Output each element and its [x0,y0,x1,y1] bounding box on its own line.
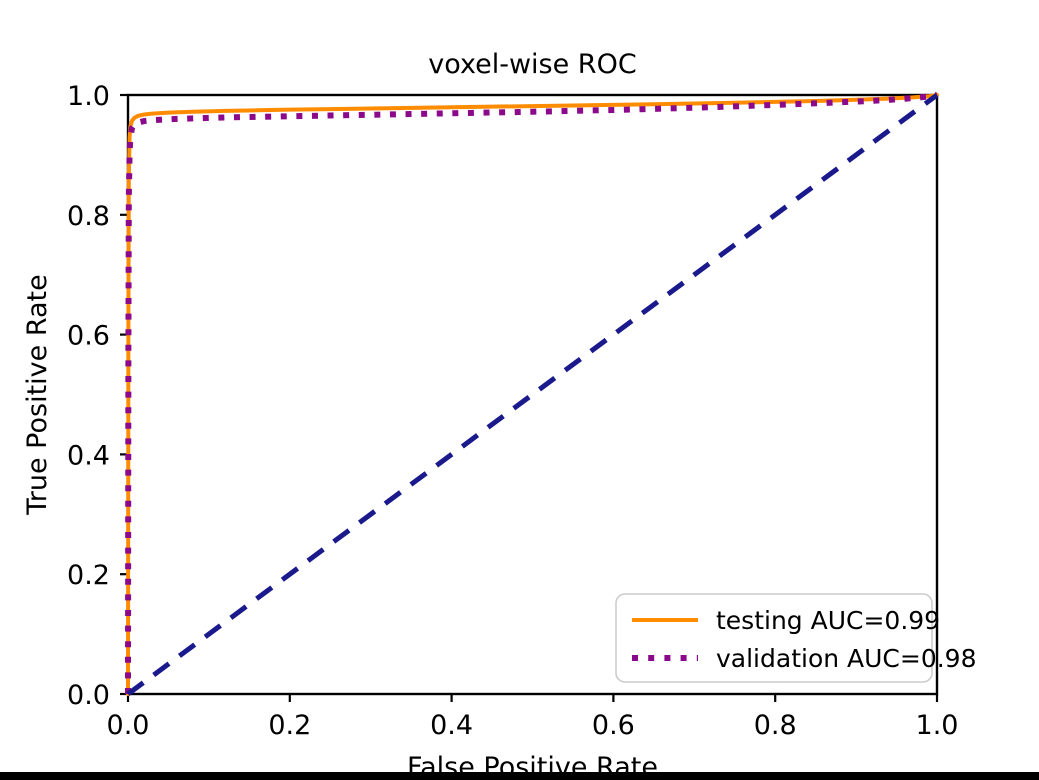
figure-canvas: 0.00.20.40.60.81.00.00.20.40.60.81.0Fals… [0,0,1039,772]
x-tick-label: 1.0 [916,710,959,741]
legend-label-1: testing AUC=0.99 [716,606,940,635]
x-axis-title: False Positive Rate [407,752,658,772]
roc-chart: 0.00.20.40.60.81.00.00.20.40.60.81.0Fals… [0,0,1039,772]
x-tick-label: 0.2 [268,710,311,741]
y-tick-label: 0.8 [67,201,110,232]
bottom-border-strip [0,772,1039,780]
x-tick-label: 0.0 [107,710,150,741]
x-tick-label: 0.8 [754,710,797,741]
y-tick-label: 0.4 [67,440,110,471]
y-axis-title: True Positive Rate [22,274,53,516]
x-tick-label: 0.4 [430,710,473,741]
y-tick-label: 0.0 [67,680,110,711]
legend-label-2: validation AUC=0.98 [716,644,977,673]
x-tick-label: 0.6 [592,710,635,741]
y-tick-label: 0.6 [67,321,110,352]
y-tick-label: 1.0 [67,81,110,112]
y-tick-label: 0.2 [67,560,110,591]
chart-title: voxel-wise ROC [428,49,636,80]
